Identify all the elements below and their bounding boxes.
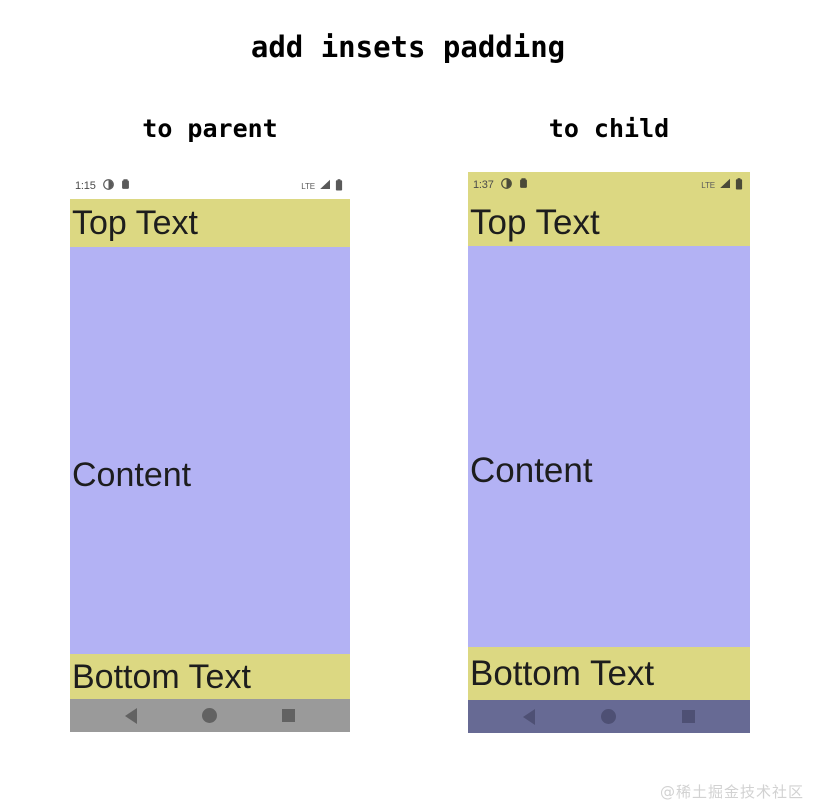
phone-mockup-to-parent: 1:15 LTE Top Text Content Bottom Text: [70, 173, 350, 759]
bottom-text-label: Bottom Text: [468, 656, 654, 691]
bottom-text-label: Bottom Text: [70, 660, 251, 694]
panel-subtitle-to-parent: to parent: [70, 114, 350, 143]
watermark: @稀土掘金技术社区: [660, 781, 804, 802]
do-not-disturb-icon: [103, 179, 114, 193]
phone-mockup-to-child: 1:37 LTE Top Text Content Bottom Text: [468, 172, 750, 759]
back-icon[interactable]: [125, 708, 137, 724]
status-bar-left-group: 1:15: [75, 179, 130, 193]
network-type-label: LTE: [301, 182, 315, 191]
battery-icon: [335, 179, 343, 194]
status-bar-right-group: LTE: [701, 178, 743, 193]
recents-icon[interactable]: [282, 709, 295, 722]
content-section: Content: [468, 246, 750, 647]
status-clock: 1:37: [473, 179, 494, 191]
top-text-label: Top Text: [468, 205, 600, 240]
do-not-disturb-icon: [501, 178, 512, 192]
content-label: Content: [468, 453, 593, 488]
top-text-section: Top Text: [468, 198, 750, 246]
top-text-section: Top Text: [70, 199, 350, 247]
bottom-text-section: Bottom Text: [70, 654, 350, 699]
status-bar: 1:37 LTE: [468, 172, 750, 198]
status-clock: 1:15: [75, 180, 96, 192]
home-icon[interactable]: [202, 708, 217, 723]
bottom-text-section: Bottom Text: [468, 647, 750, 700]
recents-icon[interactable]: [682, 710, 695, 723]
alarm-icon: [121, 179, 130, 193]
system-navigation-bar: [70, 699, 350, 732]
status-bar: 1:15 LTE: [70, 173, 350, 199]
back-icon[interactable]: [523, 709, 535, 725]
status-bar-left-group: 1:37: [473, 178, 528, 192]
home-icon[interactable]: [601, 709, 616, 724]
content-section: Content: [70, 247, 350, 654]
system-navigation-bar: [468, 700, 750, 733]
battery-icon: [735, 178, 743, 193]
alarm-icon: [519, 178, 528, 192]
signal-icon: [319, 179, 331, 193]
signal-icon: [719, 178, 731, 192]
network-type-label: LTE: [701, 181, 715, 190]
top-text-label: Top Text: [70, 206, 198, 240]
panel-subtitle-to-child: to child: [468, 114, 750, 143]
content-label: Content: [70, 458, 191, 492]
status-bar-right-group: LTE: [301, 179, 343, 194]
figure-title: add insets padding: [0, 30, 816, 64]
